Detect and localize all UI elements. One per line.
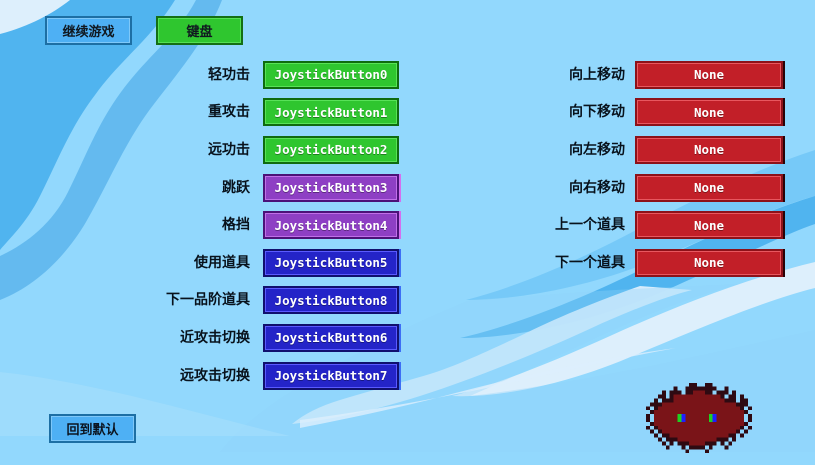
binding-value-button[interactable]: None <box>635 136 783 164</box>
binding-label: 近攻击切换 <box>150 331 250 345</box>
binding-label: 下一个道具 <box>520 256 625 270</box>
left-binding-column: 轻功击JoystickButton0重攻击JoystickButton1远功击J… <box>150 56 399 394</box>
binding-row: 下一个道具None <box>520 244 783 282</box>
binding-label: 远攻击切换 <box>150 369 250 383</box>
binding-label: 格挡 <box>150 218 250 232</box>
binding-row: 下一品阶道具JoystickButton8 <box>150 282 399 320</box>
binding-row: 远功击JoystickButton2 <box>150 131 399 169</box>
binding-label: 向上移动 <box>520 68 625 82</box>
binding-row: 轻功击JoystickButton0 <box>150 56 399 94</box>
binding-label: 远功击 <box>150 143 250 157</box>
binding-value-button[interactable]: JoystickButton7 <box>263 362 399 390</box>
binding-row: 向右移动None <box>520 169 783 207</box>
binding-row: 向左移动None <box>520 131 783 169</box>
binding-row: 向上移动None <box>520 56 783 94</box>
binding-value-button[interactable]: JoystickButton5 <box>263 249 399 277</box>
binding-row: 使用道具JoystickButton5 <box>150 244 399 282</box>
tab-continue-game[interactable]: 继续游戏 <box>45 16 132 45</box>
binding-value-button[interactable]: None <box>635 174 783 202</box>
binding-value-button[interactable]: JoystickButton4 <box>263 211 399 239</box>
binding-label: 向右移动 <box>520 181 625 195</box>
binding-value-button[interactable]: None <box>635 211 783 239</box>
binding-row: 远攻击切换JoystickButton7 <box>150 357 399 395</box>
binding-label: 上一个道具 <box>520 218 625 232</box>
tab-keyboard[interactable]: 键盘 <box>156 16 243 45</box>
binding-value-button[interactable]: JoystickButton3 <box>263 174 399 202</box>
right-binding-column: 向上移动None向下移动None向左移动None向右移动None上一个道具Non… <box>520 56 783 282</box>
binding-label: 向左移动 <box>520 143 625 157</box>
reset-to-default-button[interactable]: 回到默认 <box>49 414 136 443</box>
binding-value-button[interactable]: JoystickButton8 <box>263 286 399 314</box>
binding-value-button[interactable]: JoystickButton6 <box>263 324 399 352</box>
binding-row: 近攻击切换JoystickButton6 <box>150 319 399 357</box>
binding-label: 向下移动 <box>520 105 625 119</box>
binding-value-button[interactable]: None <box>635 98 783 126</box>
binding-value-button[interactable]: JoystickButton1 <box>263 98 399 126</box>
binding-label: 重攻击 <box>150 105 250 119</box>
binding-label: 跳跃 <box>150 181 250 195</box>
binding-row: 上一个道具None <box>520 206 783 244</box>
binding-row: 跳跃JoystickButton3 <box>150 169 399 207</box>
binding-value-button[interactable]: JoystickButton2 <box>263 136 399 164</box>
binding-value-button[interactable]: None <box>635 249 783 277</box>
binding-label: 使用道具 <box>150 256 250 270</box>
binding-row: 重攻击JoystickButton1 <box>150 94 399 132</box>
binding-row: 格挡JoystickButton4 <box>150 206 399 244</box>
binding-label: 轻功击 <box>150 68 250 82</box>
binding-value-button[interactable]: JoystickButton0 <box>263 61 399 89</box>
keybinding-settings-screen: 继续游戏 键盘 轻功击JoystickButton0重攻击JoystickBut… <box>0 0 815 465</box>
tab-bar: 继续游戏 键盘 <box>45 16 243 45</box>
binding-label: 下一品阶道具 <box>150 293 250 307</box>
binding-value-button[interactable]: None <box>635 61 783 89</box>
binding-row: 向下移动None <box>520 94 783 132</box>
